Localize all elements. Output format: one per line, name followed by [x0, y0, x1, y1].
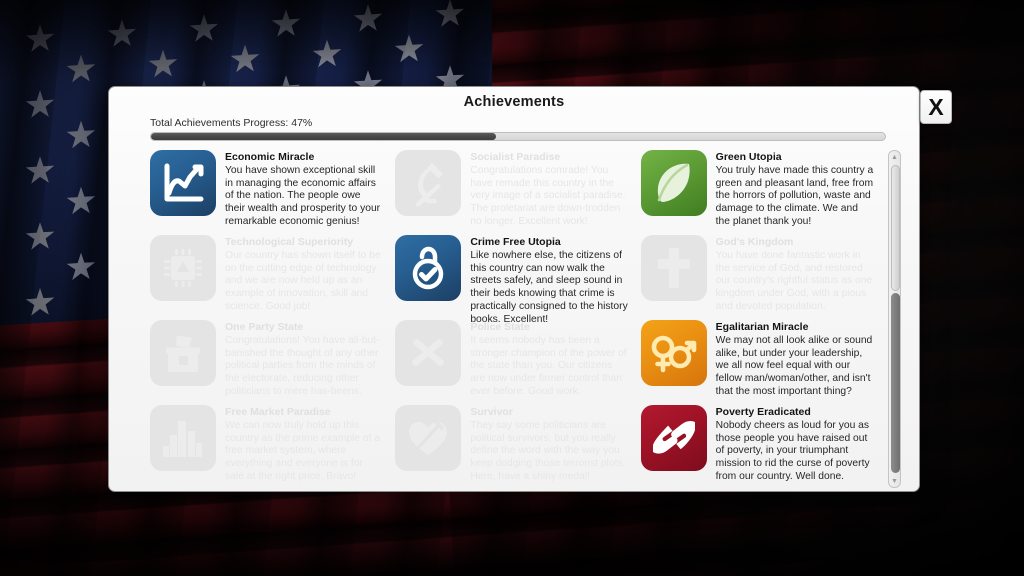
- achievement-description: Congratulations! You have all-but-banish…: [225, 335, 383, 400]
- achievement-item[interactable]: Egalitarian MiracleWe may not all look a…: [641, 320, 878, 405]
- ballot-box-icon: [150, 320, 216, 386]
- achievement-text: Economic MiracleYou have shown exception…: [225, 150, 383, 235]
- achievement-title: Socialist Paradise: [470, 151, 628, 164]
- achievement-item[interactable]: Green UtopiaYou truly have made this cou…: [641, 150, 878, 235]
- achievement-title: Technological Superiority: [225, 236, 383, 249]
- achievement-item[interactable]: Police StateIt seems nobody has been a s…: [395, 320, 632, 405]
- achievement-description: We may not all look alike or sound alike…: [716, 335, 874, 400]
- progress-bar-fill: [151, 133, 496, 140]
- achievement-description: Like nowhere else, the citizens of this …: [470, 250, 628, 328]
- achievement-title: Poverty Eradicated: [716, 406, 874, 419]
- achievement-title: One Party State: [225, 321, 383, 334]
- achievement-description: It seems nobody has been a stronger cham…: [470, 335, 628, 400]
- scrollbar-track-lower[interactable]: [891, 293, 900, 473]
- line-chart-icon: [150, 150, 216, 216]
- achievement-description: Congratulations comrade! You have remade…: [470, 165, 628, 230]
- achievement-text: Technological SuperiorityOur country has…: [225, 235, 383, 320]
- leaf-icon: [641, 150, 707, 216]
- achievement-item[interactable]: Crime Free UtopiaLike nowhere else, the …: [395, 235, 632, 320]
- achievement-text: Free Market ParadiseWe can now truly hol…: [225, 405, 383, 490]
- page-title: Achievements: [464, 94, 565, 110]
- microchip-icon: [150, 235, 216, 301]
- achievement-text: Police StateIt seems nobody has been a s…: [470, 320, 628, 405]
- achievement-item[interactable]: One Party StateCongratulations! You have…: [150, 320, 387, 405]
- achievements-dialog: Achievements X Total Achievements Progre…: [108, 86, 920, 492]
- achievement-description: Our country has shown itself to be on th…: [225, 250, 383, 315]
- achievement-description: You have done fantastic work in the serv…: [716, 250, 874, 315]
- achievement-description: They say some politicians are political …: [470, 420, 628, 485]
- achievement-title: Egalitarian Miracle: [716, 321, 874, 334]
- achievements-list-area: Economic MiracleYou have shown exception…: [150, 150, 878, 488]
- city-skyline-icon: [150, 405, 216, 471]
- achievements-grid: Economic MiracleYou have shown exception…: [150, 150, 878, 490]
- achievement-description: Nobody cheers as loud for you as those p…: [716, 420, 874, 485]
- achievement-text: Crime Free UtopiaLike nowhere else, the …: [470, 235, 628, 320]
- progress-label: Total Achievements Progress: 47%: [150, 117, 886, 129]
- achievement-item[interactable]: Socialist ParadiseCongratulations comrad…: [395, 150, 632, 235]
- achievement-title: Police State: [470, 321, 628, 334]
- achievement-text: Poverty EradicatedNobody cheers as loud …: [716, 405, 874, 490]
- achievement-item[interactable]: God's KingdomYou have done fantastic wor…: [641, 235, 878, 320]
- achievement-description: You truly have made this country a green…: [716, 165, 874, 230]
- achievement-text: One Party StateCongratulations! You have…: [225, 320, 383, 405]
- crossed-batons-icon: [395, 320, 461, 386]
- achievement-title: Survivor: [470, 406, 628, 419]
- achievement-title: Free Market Paradise: [225, 406, 383, 419]
- gender-symbols-icon: [641, 320, 707, 386]
- cross-icon: [641, 235, 707, 301]
- dialog-titlebar: Achievements X: [109, 87, 919, 117]
- achievement-description: You have shown exceptional skill in mana…: [225, 165, 383, 230]
- achievement-text: Socialist ParadiseCongratulations comrad…: [470, 150, 628, 235]
- achievement-text: God's KingdomYou have done fantastic wor…: [716, 235, 874, 320]
- achievements-scrollbar[interactable]: ▲ ▼: [888, 150, 901, 488]
- progress-bar-track: [150, 132, 886, 141]
- hammer-and-sickle-icon: [395, 150, 461, 216]
- achievement-item[interactable]: Technological SuperiorityOur country has…: [150, 235, 387, 320]
- achievement-text: SurvivorThey say some politicians are po…: [470, 405, 628, 490]
- heart-dagger-icon: [395, 405, 461, 471]
- scroll-up-arrow-icon[interactable]: ▲: [889, 151, 900, 163]
- helping-hands-icon: [641, 405, 707, 471]
- achievement-text: Green UtopiaYou truly have made this cou…: [716, 150, 874, 235]
- achievement-title: Green Utopia: [716, 151, 874, 164]
- achievement-title: God's Kingdom: [716, 236, 874, 249]
- achievement-item[interactable]: Economic MiracleYou have shown exception…: [150, 150, 387, 235]
- achievement-description: We can now truly hold up this country as…: [225, 420, 383, 485]
- scroll-down-arrow-icon[interactable]: ▼: [889, 475, 900, 487]
- achievement-text: Egalitarian MiracleWe may not all look a…: [716, 320, 874, 405]
- close-button[interactable]: X: [920, 90, 952, 124]
- achievement-title: Economic Miracle: [225, 151, 383, 164]
- achievement-title: Crime Free Utopia: [470, 236, 628, 249]
- achievement-item[interactable]: SurvivorThey say some politicians are po…: [395, 405, 632, 490]
- progress-section: Total Achievements Progress: 47%: [109, 117, 919, 141]
- scrollbar-thumb[interactable]: [891, 165, 900, 291]
- achievement-item[interactable]: Free Market ParadiseWe can now truly hol…: [150, 405, 387, 490]
- padlock-check-icon: [395, 235, 461, 301]
- achievement-item[interactable]: Poverty EradicatedNobody cheers as loud …: [641, 405, 878, 490]
